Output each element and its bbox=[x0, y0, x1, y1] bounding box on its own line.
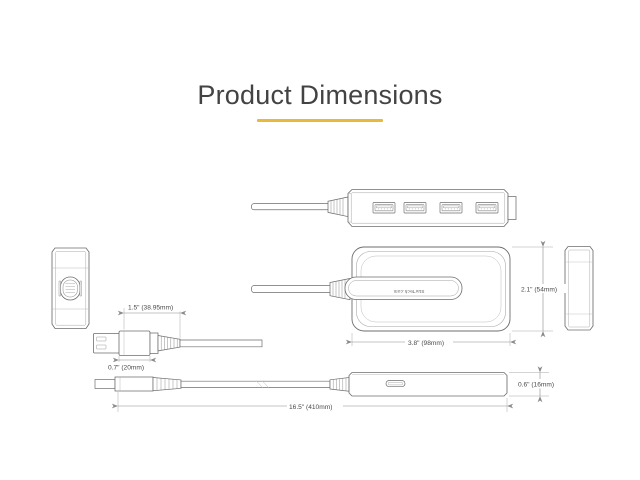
hub-front-right-tail bbox=[508, 197, 516, 220]
usb-a-port-1 bbox=[373, 203, 395, 214]
usb-a-strain-relief bbox=[158, 336, 180, 351]
hub-top-view: StarTech.com bbox=[251, 247, 510, 331]
usb-a-port-3 bbox=[440, 203, 462, 214]
usb-a-connector-housing bbox=[119, 331, 158, 356]
dimension-label-connector-width: 0.7" (20mm) bbox=[108, 365, 144, 372]
hub-front-port-view bbox=[251, 190, 516, 227]
strain-relief-front-view bbox=[328, 197, 348, 217]
technical-drawing: StarTech.com 2.1" (54mm) 3.8" (98mm) bbox=[0, 0, 640, 480]
usb-a-connector-detail-view bbox=[94, 331, 263, 356]
strain-relief-bottom-left bbox=[153, 378, 181, 391]
usb-a-plug-bottom-view bbox=[95, 377, 153, 391]
usb-a-port-2 bbox=[404, 203, 426, 214]
hub-left-end-view bbox=[52, 248, 89, 329]
brand-logo-text: StarTech.com bbox=[393, 289, 424, 294]
dimension-label-hub-length: 3.8" (98mm) bbox=[408, 340, 444, 347]
hub-bottom-full-length-view bbox=[95, 373, 507, 397]
dimension-label-hub-width: 2.1" (54mm) bbox=[521, 287, 557, 294]
dimension-label-overall-length: 16.5" (410mm) bbox=[289, 404, 332, 411]
cable-front-view bbox=[251, 204, 330, 210]
dimension-hub-length: 3.8" (98mm) bbox=[352, 333, 510, 347]
usb-c-port-top-view bbox=[345, 277, 462, 300]
usb-a-metal-shell bbox=[94, 334, 120, 354]
usb-c-port-bottom-view bbox=[386, 381, 405, 387]
dimension-label-connector-length: 1.5" (38.95mm) bbox=[128, 305, 173, 312]
dimension-connector-width: 0.7" (20mm) bbox=[106, 356, 151, 372]
dimension-label-hub-height: 0.6" (16mm) bbox=[518, 382, 554, 389]
hub-body-bottom-profile bbox=[349, 373, 507, 397]
usb-a-port-4 bbox=[476, 203, 498, 214]
product-dimensions-page: Product Dimensions bbox=[0, 0, 640, 480]
usb-c-port-left-end bbox=[59, 277, 82, 300]
dimension-hub-height: 0.6" (16mm) bbox=[509, 373, 564, 397]
hub-right-end-view bbox=[565, 247, 593, 331]
dimension-hub-width: 2.1" (54mm) bbox=[512, 247, 567, 331]
